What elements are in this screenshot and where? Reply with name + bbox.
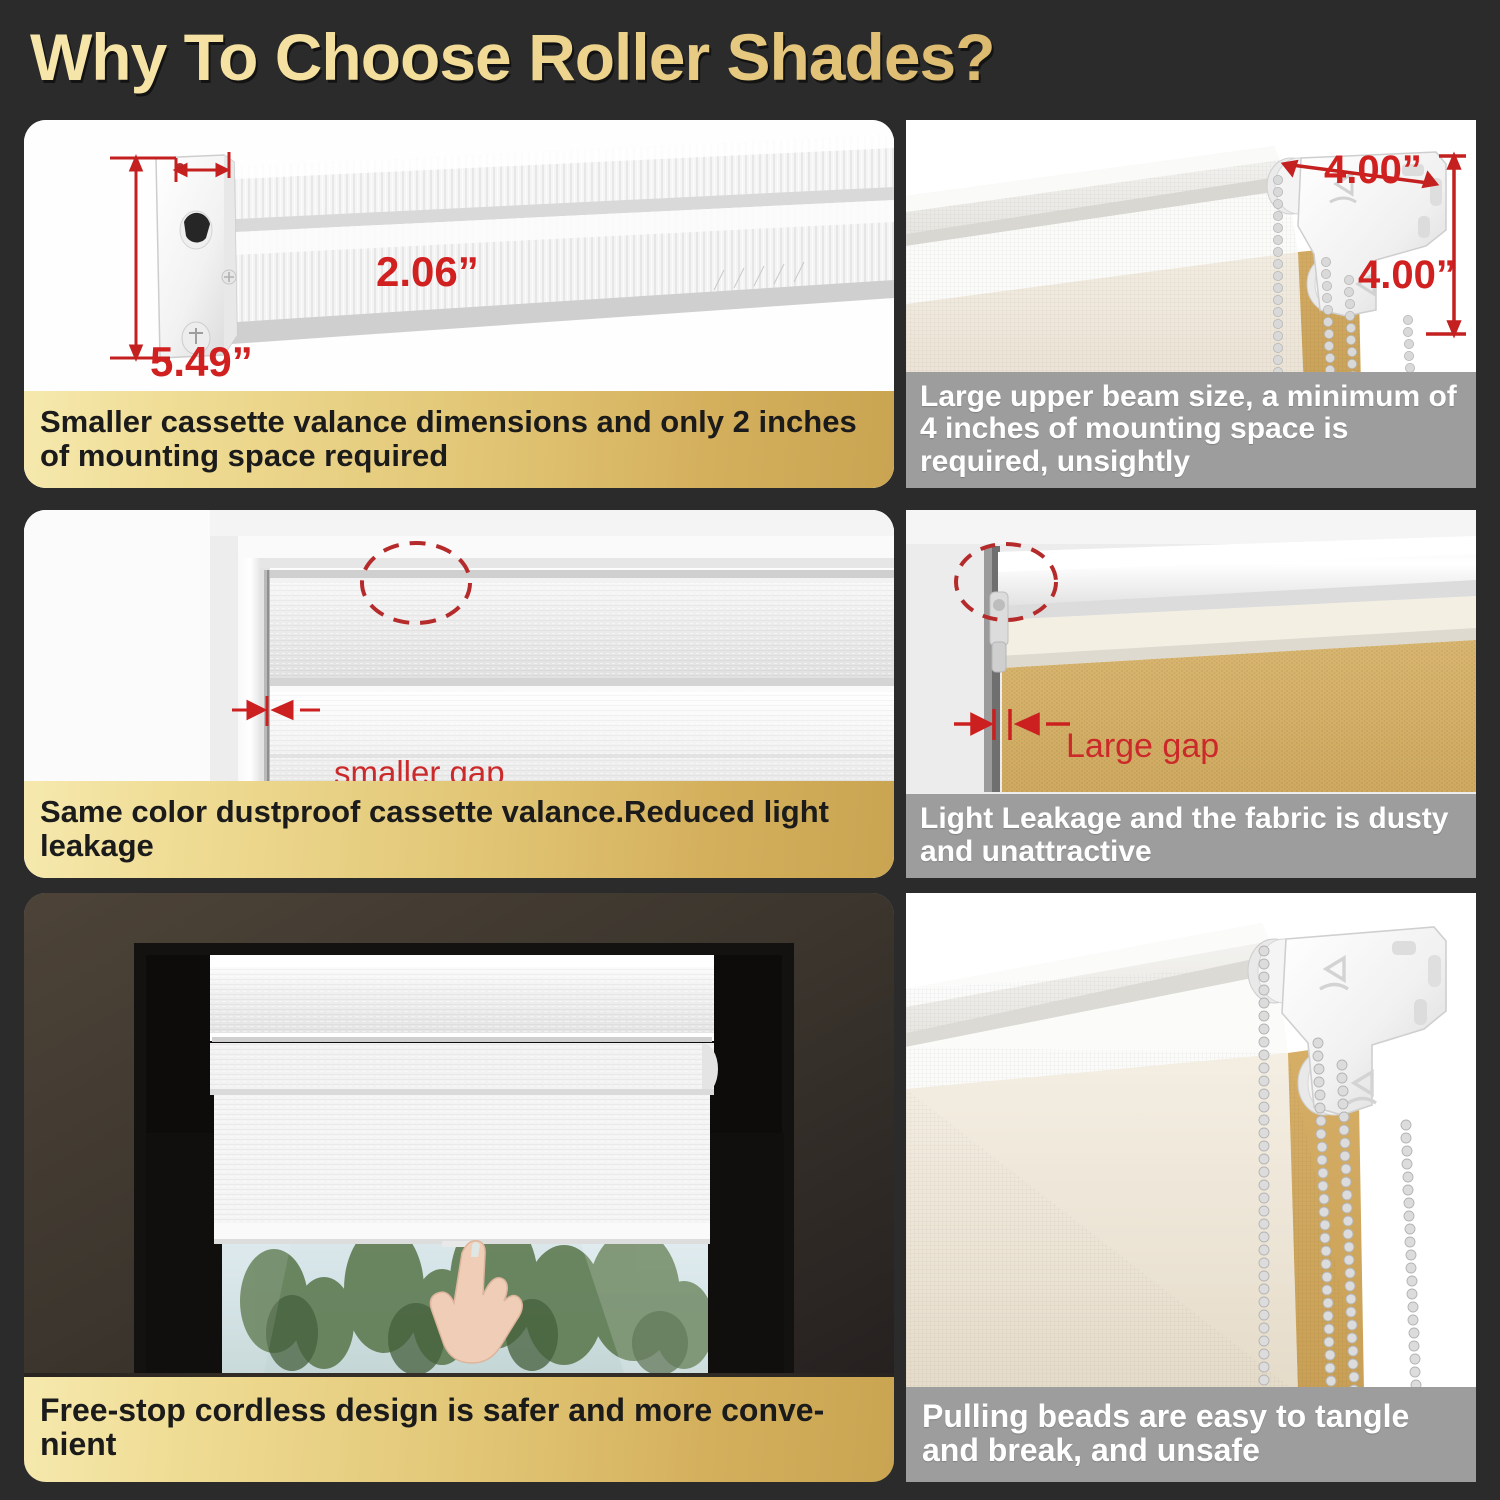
panel-4-caption: Light Leakage and the fabric is dusty an… — [906, 794, 1476, 878]
panel-2-caption: Large upper beam size, a minimum of 4 in… — [906, 372, 1476, 488]
panel-cordless-design: Free-stop cordless design is safer and m… — [24, 893, 894, 1482]
gap-annotation: Large gap — [1066, 727, 1219, 766]
panel-6-caption: Pulling beads are easy to tangle and bre… — [906, 1387, 1476, 1482]
dimension-label-height: 5.49” — [150, 338, 253, 386]
infographic-page: Why To Choose Roller Shades? — [0, 0, 1500, 1500]
dimension-label-height: 4.00” — [1358, 253, 1456, 298]
panel-light-leakage: Large gap Light Leakage and the fabric i… — [906, 510, 1476, 878]
panel-large-upper-beam: 4.00” 4.00” Large upper beam size, a min… — [906, 120, 1476, 488]
dimension-label-width: 2.06” — [376, 248, 479, 296]
panel-1-caption: Smaller cassette valance dimensions and … — [24, 391, 894, 488]
panel-3-caption: Same color dustproof cassette valance.Re… — [24, 781, 894, 878]
panel-pulling-beads: Pulling beads are easy to tangle and bre… — [906, 893, 1476, 1482]
dimension-label-width: 4.00” — [1324, 148, 1422, 193]
panel-5-caption: Free-stop cordless design is safer and m… — [24, 1377, 894, 1482]
room-window-shade-illustration — [24, 893, 894, 1373]
comparison-grid: 2.06” 5.49” Smaller cassette valance dim… — [0, 0, 1500, 1500]
panel-smaller-cassette: 2.06” 5.49” Smaller cassette valance dim… — [24, 120, 894, 488]
panel-dustproof-cassette: smaller gap Same color dustproof cassett… — [24, 510, 894, 878]
bead-chain-shade-illustration — [906, 893, 1476, 1393]
